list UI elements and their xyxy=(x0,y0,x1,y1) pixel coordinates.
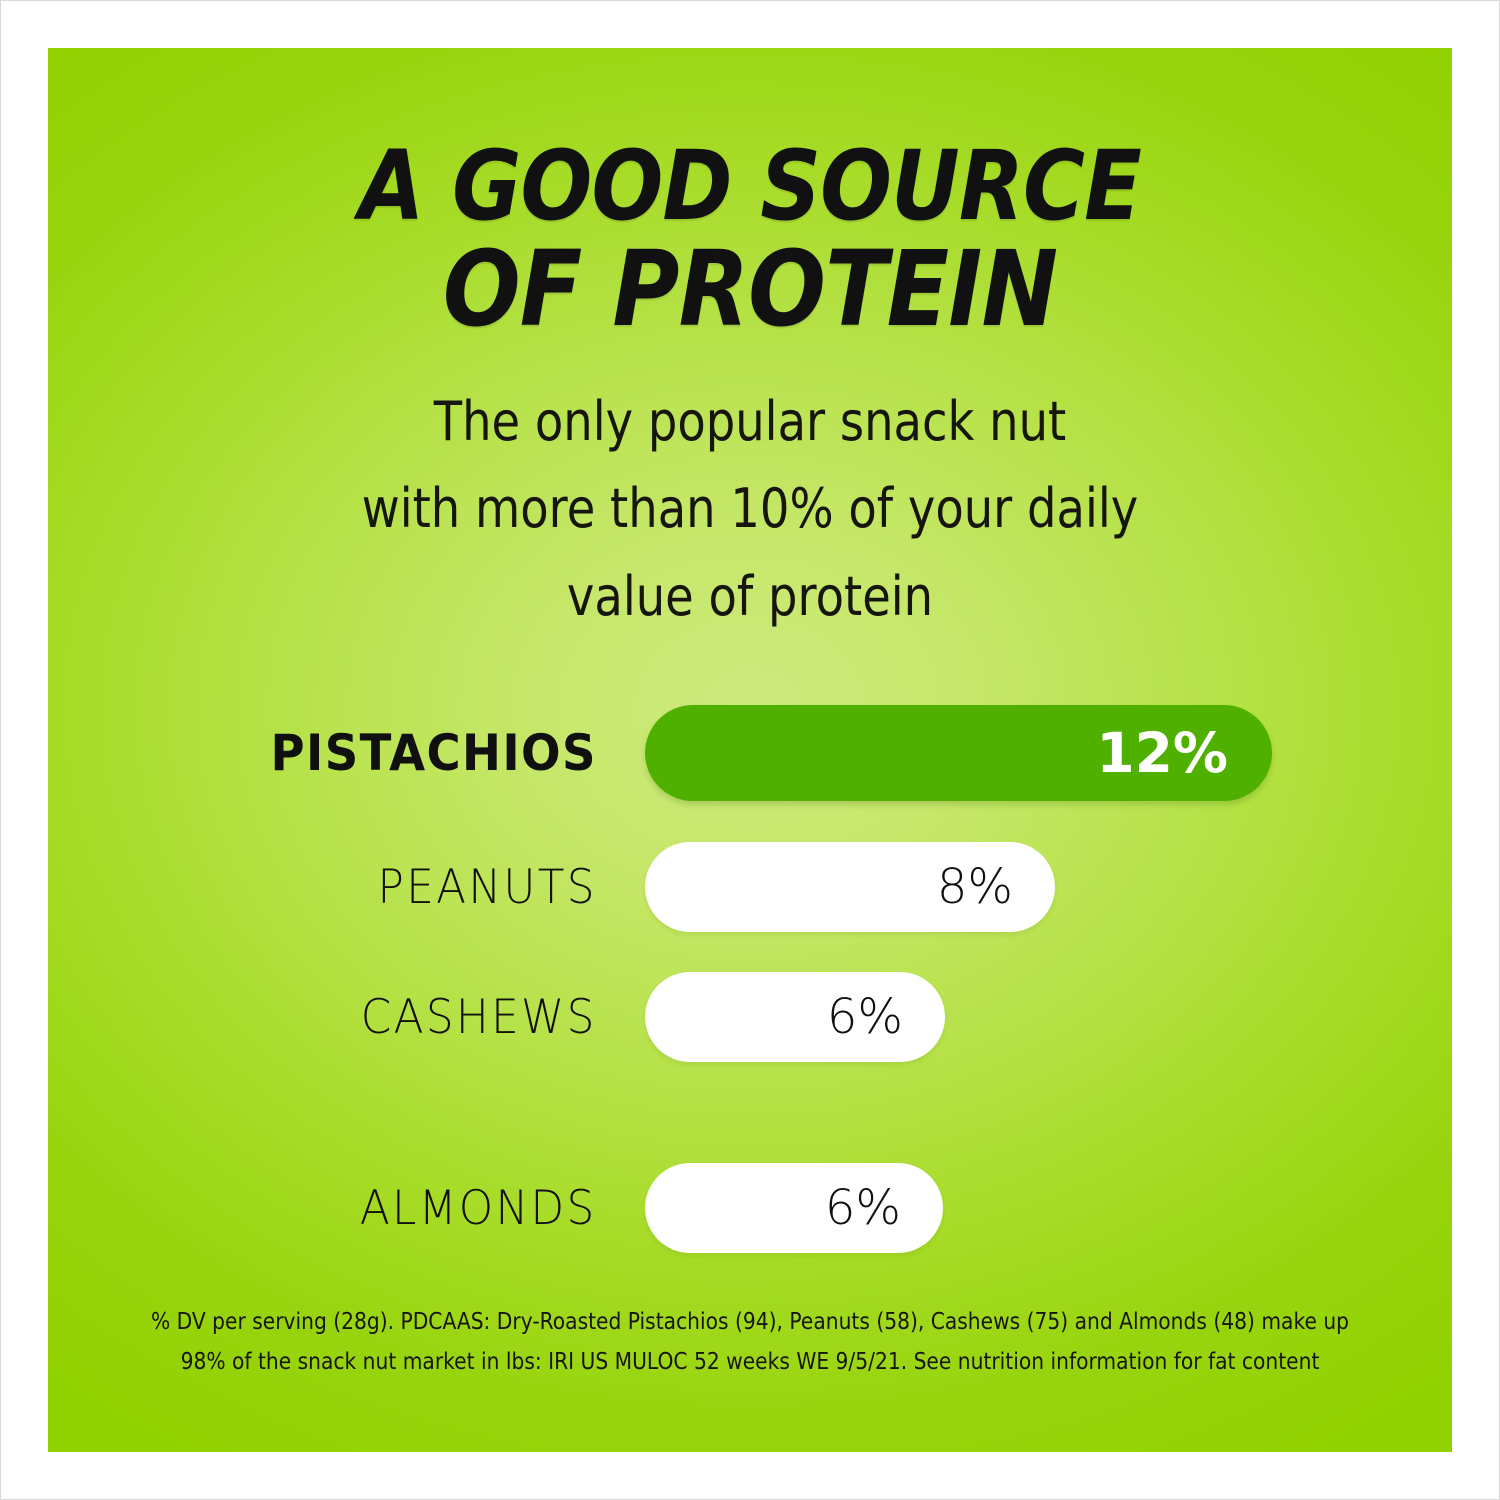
bar-track-cashews: 6% xyxy=(645,972,945,1062)
bar-row-cashews: CASHEWS 6% xyxy=(48,972,1452,1062)
bar-track-almonds: 6% xyxy=(645,1163,943,1253)
bar-label-almonds: ALMONDS xyxy=(360,1181,597,1236)
green-panel: A GOOD SOURCE OF PROTEIN The only popula… xyxy=(48,48,1452,1452)
bar-value-almonds: 6% xyxy=(825,1180,943,1236)
infographic-canvas: A GOOD SOURCE OF PROTEIN The only popula… xyxy=(0,0,1500,1500)
page-title: A GOOD SOURCE OF PROTEIN xyxy=(132,138,1368,342)
bar-row-almonds: ALMONDS 6% xyxy=(48,1163,1452,1253)
subtitle-line-3: value of protein xyxy=(146,553,1353,640)
footnote-line-1: % DV per serving (28g). PDCAAS: Dry-Roas… xyxy=(132,1302,1368,1342)
bar-value-pistachios: 12% xyxy=(1096,721,1272,785)
headline-line-2: OF PROTEIN xyxy=(132,236,1368,342)
bar-value-cashews: 6% xyxy=(827,989,945,1045)
bar-label-cashews: CASHEWS xyxy=(361,990,597,1045)
footnote-line-2: 98% of the snack nut market in lbs: IRI … xyxy=(132,1342,1368,1382)
page-subtitle: The only popular snack nut with more tha… xyxy=(146,378,1353,640)
bar-value-peanuts: 8% xyxy=(937,859,1055,915)
subtitle-line-2: with more than 10% of your daily xyxy=(146,465,1353,552)
bar-label-peanuts: PEANUTS xyxy=(378,860,597,915)
footnote: % DV per serving (28g). PDCAAS: Dry-Roas… xyxy=(132,1302,1368,1383)
bar-track-peanuts: 8% xyxy=(645,842,1055,932)
headline-line-1: A GOOD SOURCE xyxy=(132,138,1368,236)
bar-row-pistachios: PISTACHIOS 12% xyxy=(48,705,1452,801)
bar-row-peanuts: PEANUTS 8% xyxy=(48,842,1452,932)
bar-label-pistachios: PISTACHIOS xyxy=(271,724,597,782)
protein-bar-chart: PISTACHIOS 12% PEANUTS 8% CASHEWS 6% ALM… xyxy=(48,653,1452,1273)
bar-track-pistachios: 12% xyxy=(645,705,1272,801)
subtitle-line-1: The only popular snack nut xyxy=(146,378,1353,465)
